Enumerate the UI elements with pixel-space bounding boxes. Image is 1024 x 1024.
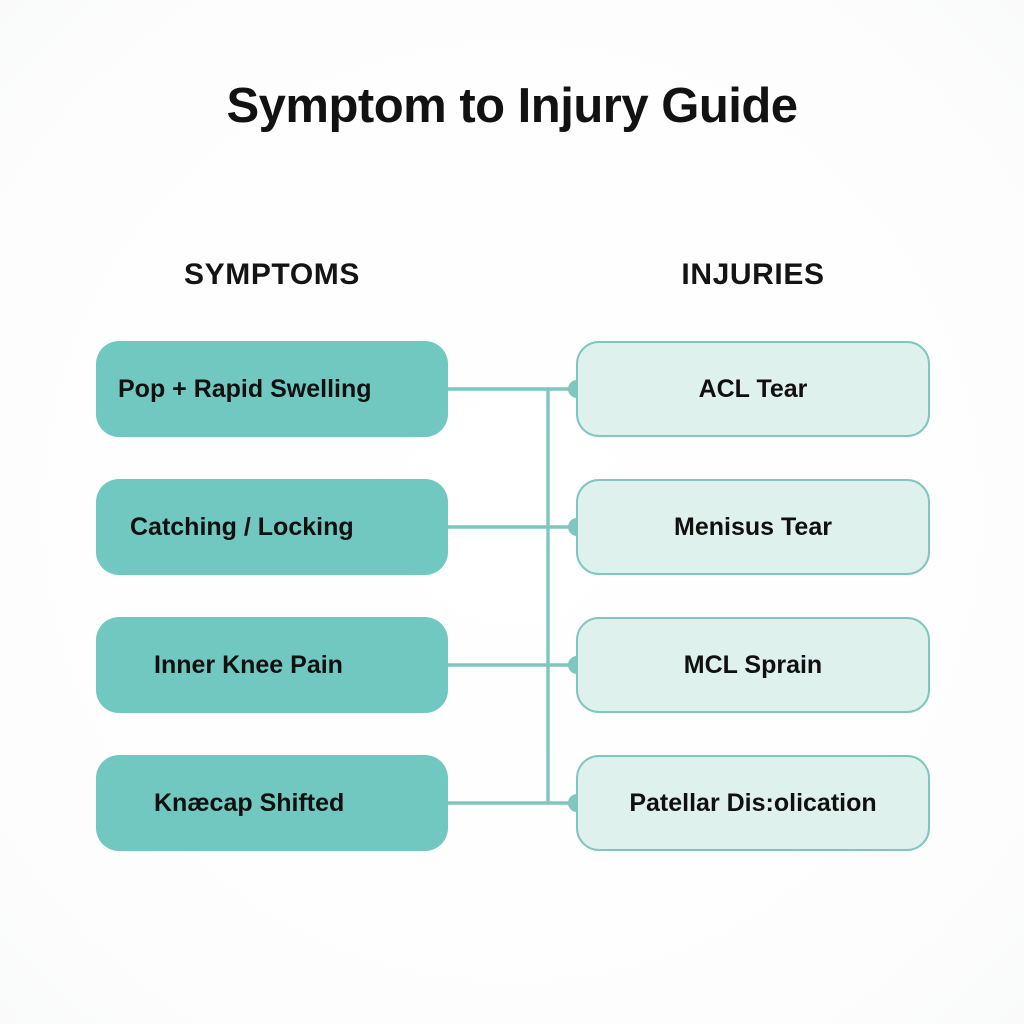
column-header-injuries: INJURIES [576, 258, 930, 292]
diagram-canvas: Symptom to Injury Guide SYMPTOMS INJURIE… [0, 0, 1024, 1024]
symptom-node-3[interactable]: Inner Knee Pain [96, 617, 448, 713]
column-header-symptoms: SYMPTOMS [96, 258, 448, 292]
symptom-label-4: Knæcap Shifted [154, 789, 344, 818]
symptom-label-1: Pop + Rapid Swelling [118, 375, 372, 404]
injury-node-2[interactable]: Menisus Tear [576, 479, 930, 575]
symptom-node-2[interactable]: Catching / Locking [96, 479, 448, 575]
injury-label-2: Menisus Tear [674, 513, 832, 542]
injury-label-3: MCL Sprain [684, 651, 822, 680]
connector-dots [568, 380, 586, 812]
symptom-node-1[interactable]: Pop + Rapid Swelling [96, 341, 448, 437]
page-title: Symptom to Injury Guide [0, 78, 1024, 134]
symptom-label-2: Catching / Locking [130, 513, 354, 542]
injury-label-4: Patellar Dis:olication [629, 789, 876, 818]
symptom-node-4[interactable]: Knæcap Shifted [96, 755, 448, 851]
injury-node-4[interactable]: Patellar Dis:olication [576, 755, 930, 851]
injury-node-3[interactable]: MCL Sprain [576, 617, 930, 713]
injury-node-1[interactable]: ACL Tear [576, 341, 930, 437]
injury-label-1: ACL Tear [699, 375, 808, 404]
symptom-label-3: Inner Knee Pain [154, 651, 343, 680]
